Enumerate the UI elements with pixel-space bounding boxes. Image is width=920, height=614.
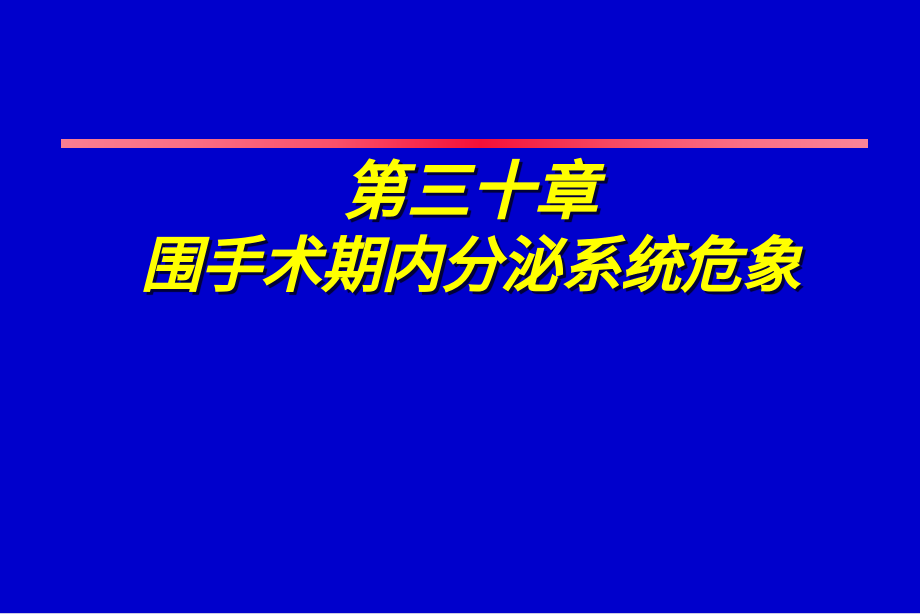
- slide-canvas: 第三十章 围手术期内分泌系统危象: [0, 0, 920, 614]
- gradient-divider-rule: [61, 139, 868, 148]
- gradient-divider-fill: [61, 139, 868, 148]
- slide-title-line-1: 第三十章: [22, 156, 920, 228]
- slide-title-block: 第三十章 围手术期内分泌系统危象: [0, 156, 920, 304]
- slide-title-line-2: 围手术期内分泌系统危象: [22, 228, 920, 304]
